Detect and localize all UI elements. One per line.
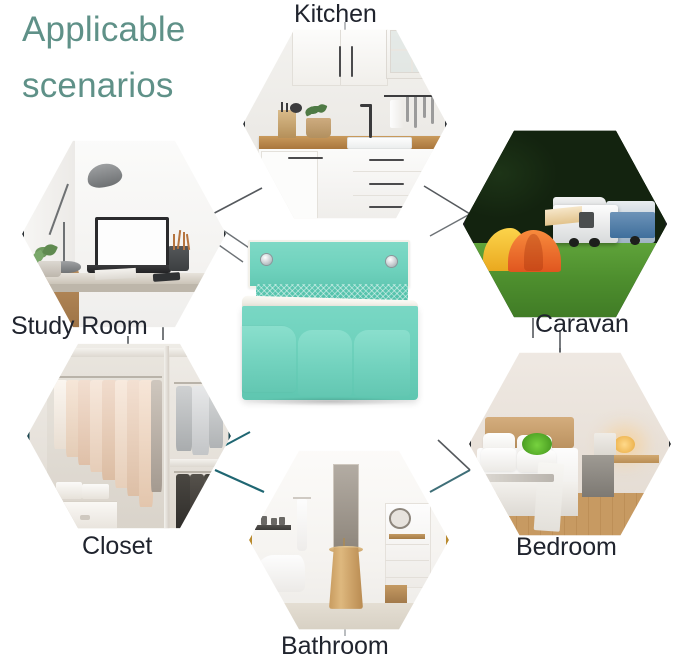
- closet-photo: [27, 340, 231, 532]
- caravan-scene: [463, 127, 667, 321]
- scenario-label-closet: Closet: [82, 532, 152, 560]
- caravan-photo: [463, 127, 667, 321]
- product-pocket-3: [354, 330, 410, 396]
- study-room-scene: [22, 137, 226, 331]
- scenario-hex-study-room[interactable]: [22, 137, 226, 331]
- scenario-label-study-room: Study Room: [11, 312, 148, 340]
- product-pocket-1: [242, 326, 296, 392]
- product-image[interactable]: [232, 240, 422, 405]
- scenario-hex-caravan[interactable]: [463, 127, 667, 321]
- kitchen-photo: [243, 26, 447, 222]
- bathroom-photo: [249, 447, 449, 633]
- scenario-hex-bathroom[interactable]: [249, 447, 449, 633]
- scenario-hex-closet[interactable]: [27, 340, 231, 532]
- title-line-1: Applicable: [22, 2, 262, 58]
- product-shadow: [248, 397, 412, 406]
- grommet-left: [261, 254, 272, 265]
- infographic-canvas: Applicable scenarios: [0, 0, 679, 661]
- scenario-hex-bedroom[interactable]: [469, 349, 671, 539]
- product-top-flap: [248, 240, 410, 288]
- grommet-right: [386, 256, 397, 267]
- bedroom-photo: [469, 349, 671, 539]
- bathroom-scene: [249, 447, 449, 633]
- product-pocket-2: [298, 330, 352, 396]
- scenario-label-bedroom: Bedroom: [516, 533, 617, 561]
- scenario-label-bathroom: Bathroom: [281, 632, 389, 660]
- study-room-photo: [22, 137, 226, 331]
- closet-scene: [27, 340, 231, 532]
- page-title: Applicable scenarios: [22, 2, 262, 114]
- scenario-label-caravan: Caravan: [535, 310, 629, 338]
- bedroom-scene: [469, 349, 671, 539]
- scenario-label-kitchen: Kitchen: [294, 0, 377, 28]
- title-line-2: scenarios: [22, 58, 262, 114]
- scenario-hex-kitchen[interactable]: [243, 26, 447, 222]
- kitchen-scene: [243, 26, 447, 222]
